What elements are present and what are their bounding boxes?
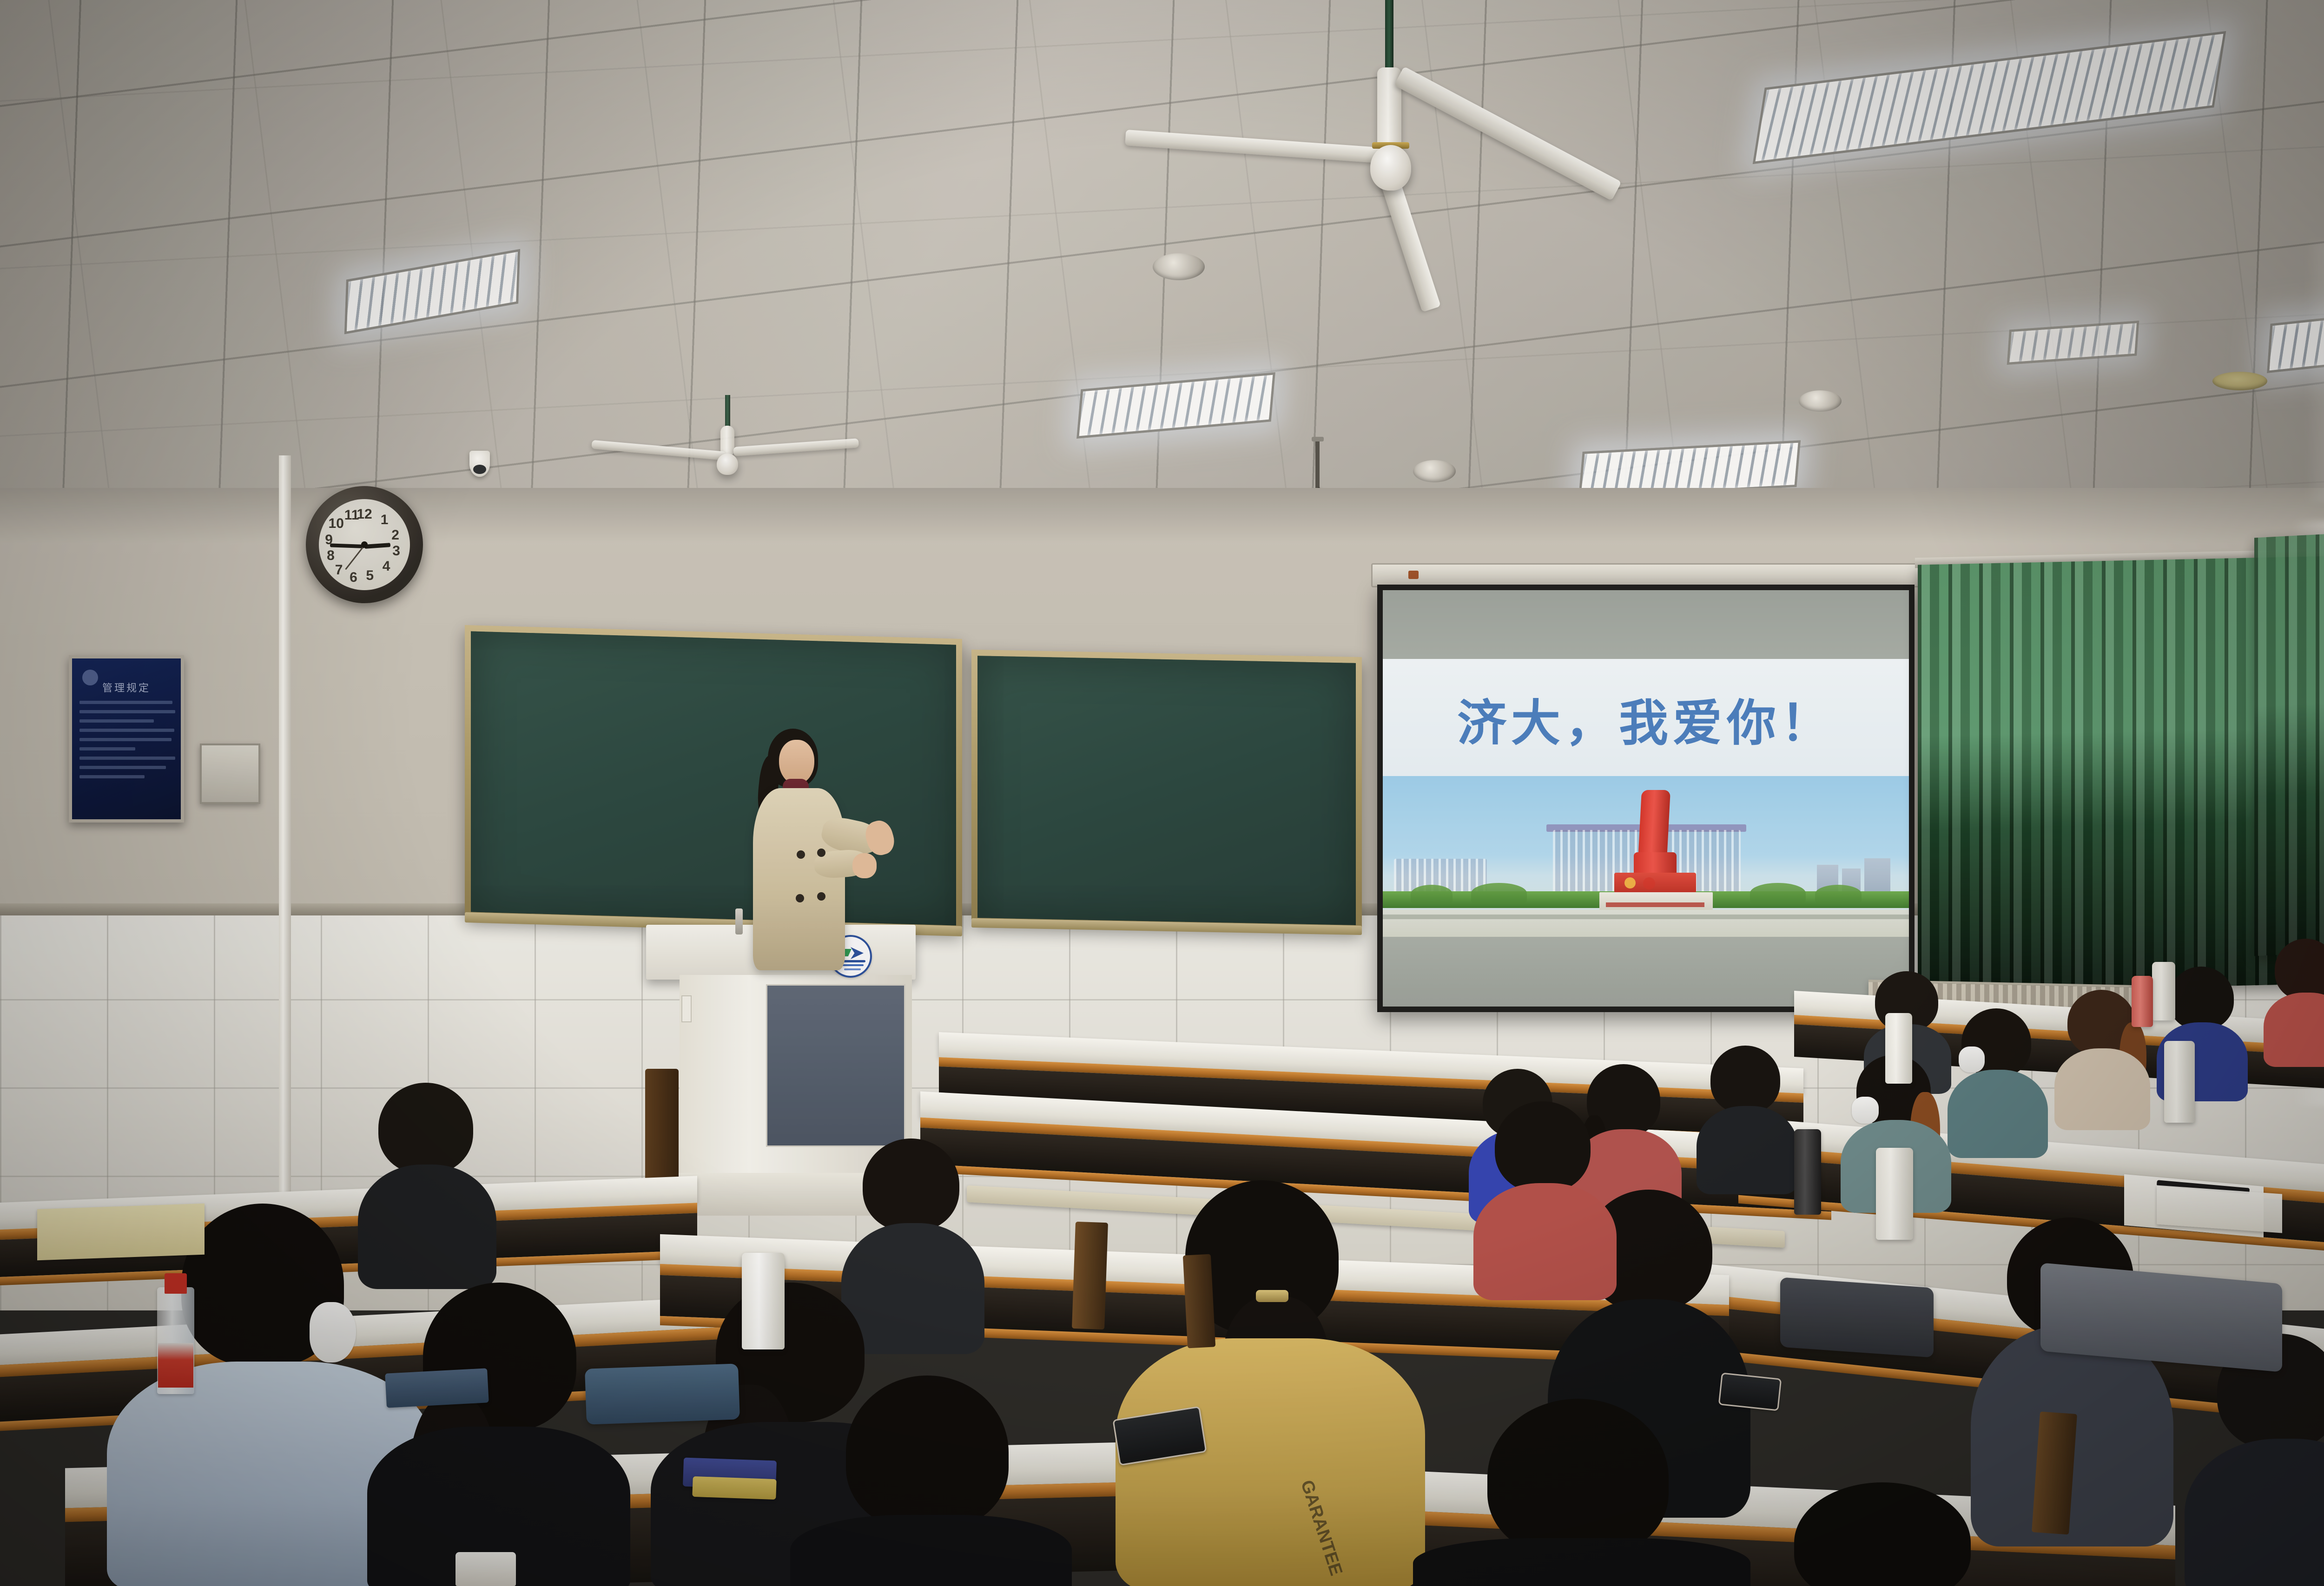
smoke-detector xyxy=(1153,253,1205,280)
student xyxy=(1413,1399,1748,1586)
notice-title: 管理规定 xyxy=(72,680,181,695)
student: GARANTEE xyxy=(1116,1180,1422,1586)
yellow-puffer-jacket xyxy=(1116,1338,1425,1586)
thermos-flask[interactable] xyxy=(1885,1013,1912,1084)
smoke-detector xyxy=(1799,390,1842,412)
smartphone[interactable] xyxy=(1718,1372,1782,1411)
thermos-flask[interactable] xyxy=(742,1253,785,1349)
right-blackboard-surface xyxy=(977,656,1356,925)
wall-clock: 12 1 2 3 4 5 6 7 8 9 10 11 xyxy=(306,486,423,603)
projection-screen[interactable]: 济大，我爱你！ xyxy=(1377,585,1915,1012)
window-light xyxy=(2305,242,2324,502)
smoke-detector xyxy=(1413,460,1456,482)
backpack[interactable] xyxy=(1780,1277,1934,1357)
instructor-coat xyxy=(753,788,845,970)
student xyxy=(790,1375,1069,1586)
thermos-flask[interactable] xyxy=(1876,1148,1913,1240)
face-mask xyxy=(1959,1046,1985,1073)
projection-surface: 济大，我爱你！ xyxy=(1383,590,1909,1007)
dome-security-camera xyxy=(469,451,490,477)
water-bottle[interactable] xyxy=(157,1273,194,1394)
ceiling-vent xyxy=(2212,372,2267,390)
student xyxy=(2264,939,2324,1060)
vertical-pipe xyxy=(279,455,291,1283)
student xyxy=(2185,1334,2324,1586)
instructor-face xyxy=(779,740,814,784)
pencil-case[interactable] xyxy=(692,1476,776,1500)
chair[interactable] xyxy=(1183,1254,1215,1349)
right-blackboard xyxy=(971,650,1362,931)
chair[interactable] xyxy=(1072,1222,1108,1329)
thermos-flask[interactable] xyxy=(2164,1041,2195,1123)
slide-title: 济大，我爱你！ xyxy=(1383,683,1909,755)
screen-case-button[interactable] xyxy=(1408,571,1419,579)
ceiling-fan xyxy=(1246,0,1906,293)
folded-jacket[interactable] xyxy=(585,1363,740,1424)
thermos-flask[interactable] xyxy=(2152,962,2175,1020)
paper-sheet[interactable] xyxy=(37,1204,205,1261)
thermos-flask[interactable] xyxy=(2132,976,2153,1027)
classroom-scene: 管理规定 12 1 2 3 4 5 6 7 8 9 10 11 xyxy=(0,0,2324,1586)
student xyxy=(1473,1101,1613,1296)
face-mask xyxy=(310,1302,356,1362)
student xyxy=(1697,1046,1794,1190)
student xyxy=(367,1283,627,1586)
lectern-monitor[interactable] xyxy=(766,984,905,1147)
student xyxy=(1738,1482,2027,1586)
student xyxy=(1948,1008,2045,1148)
wall-notice-board: 管理规定 xyxy=(69,655,184,823)
lectern-side-panel xyxy=(681,995,692,1022)
projector-screen-case xyxy=(1371,563,1920,587)
paper-cup[interactable] xyxy=(456,1552,516,1586)
electrical-box xyxy=(200,744,260,804)
thermos-flask[interactable] xyxy=(1794,1129,1821,1215)
instructor xyxy=(731,729,907,970)
window-curtain[interactable] xyxy=(2254,531,2324,956)
pencil-case[interactable] xyxy=(385,1368,489,1408)
hair-clip xyxy=(1256,1290,1288,1302)
teacher-chair[interactable] xyxy=(645,1069,679,1185)
slide-photo xyxy=(1383,776,1909,948)
